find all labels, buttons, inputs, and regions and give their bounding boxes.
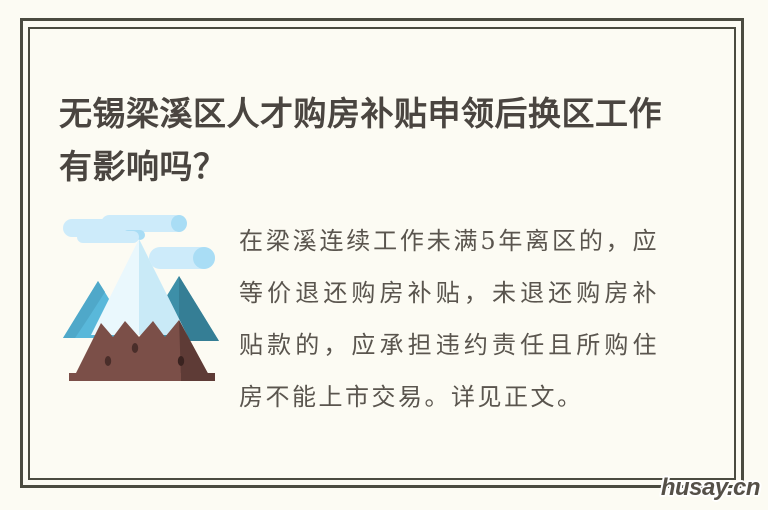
snow-mountain-icon (61, 213, 221, 388)
article-summary-row: 在梁溪连续工作未满5年离区的，应等价退还购房补贴，未退还购房补贴款的，应承担违约… (59, 201, 707, 465)
article-card: 无锡梁溪区人才购房补贴申领后换区工作有影响吗？ (20, 18, 744, 488)
page-title: 无锡梁溪区人才购房补贴申领后换区工作有影响吗？ (59, 87, 679, 193)
site-watermark: husay.cn (661, 474, 760, 502)
rock-dot (132, 343, 138, 353)
rock-dot (105, 356, 111, 366)
rock-dot (178, 356, 184, 366)
article-summary-text: 在梁溪连续工作未满5年离区的，应等价退还购房补贴，未退还购房补贴款的，应承担违约… (239, 215, 659, 423)
